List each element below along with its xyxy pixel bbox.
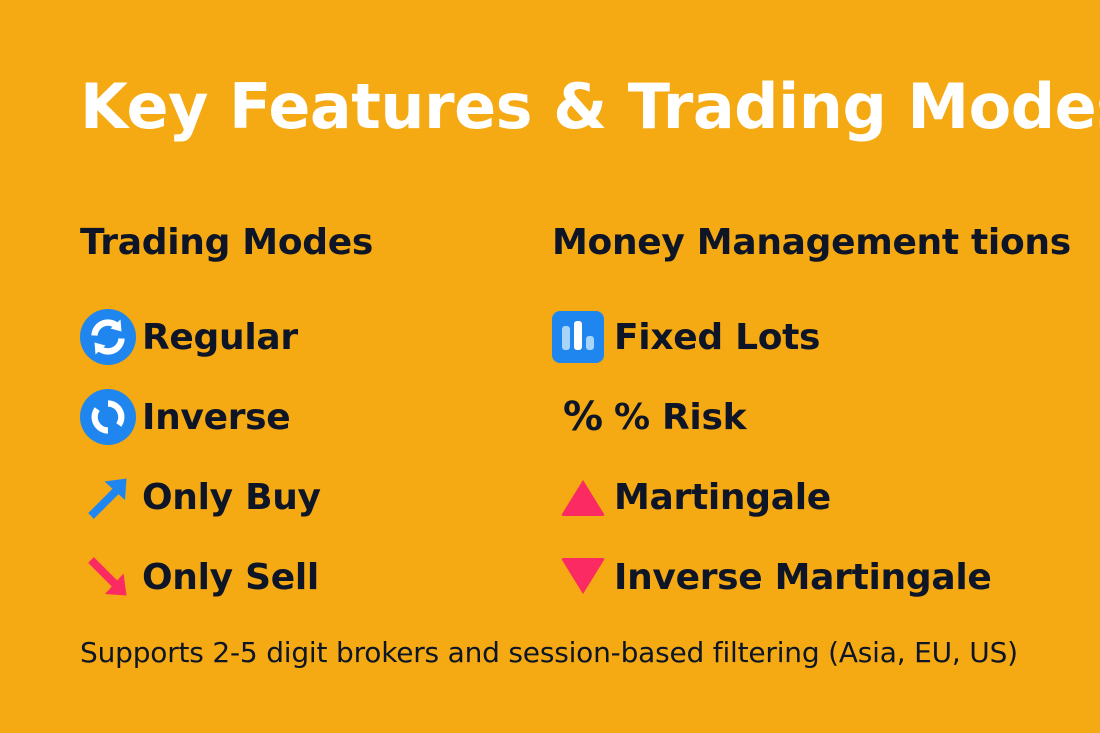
list-item-label: Inverse (142, 397, 290, 438)
triangle-up-icon (552, 469, 614, 525)
footer-note: Supports 2-5 digit brokers and session-b… (80, 636, 1090, 669)
slide-canvas: Key Features & Trading Modes Trading Mod… (0, 0, 1100, 733)
trading-modes-column: Trading Modes Regular (80, 222, 550, 617)
percent-icon: % (552, 389, 614, 445)
list-item-label: Inverse Martingale (614, 557, 992, 598)
list-item-only-buy[interactable]: Only Buy (80, 457, 550, 537)
money-management-column: Money Management tions Fixed Lots % % Ri… (552, 222, 1092, 617)
arrow-down-right-icon (80, 549, 142, 605)
circular-ring-circle-icon (80, 389, 142, 445)
triangle-down-icon (552, 549, 614, 605)
list-item-label: Only Buy (142, 477, 321, 518)
list-item-label: % Risk (614, 397, 746, 438)
list-item-percent-risk[interactable]: % % Risk (552, 377, 1092, 457)
list-item-fixed-lots[interactable]: Fixed Lots (552, 297, 1092, 377)
bar-chart-icon (552, 309, 614, 365)
list-item-label: Regular (142, 317, 298, 358)
money-management-heading: Money Management tions (552, 222, 1092, 263)
list-item-label: Only Sell (142, 557, 319, 598)
percent-glyph: % (563, 397, 603, 437)
trading-modes-heading: Trading Modes (80, 222, 550, 263)
list-item-inverse[interactable]: Inverse (80, 377, 550, 457)
page-title: Key Features & Trading Modes (80, 74, 1040, 139)
list-item-regular[interactable]: Regular (80, 297, 550, 377)
arrow-up-right-icon (80, 469, 142, 525)
sync-arrows-circle-icon (80, 309, 142, 365)
list-item-only-sell[interactable]: Only Sell (80, 537, 550, 617)
list-item-martingale[interactable]: Martingale (552, 457, 1092, 537)
list-item-inverse-martingale[interactable]: Inverse Martingale (552, 537, 1092, 617)
list-item-label: Martingale (614, 477, 831, 518)
list-item-label: Fixed Lots (614, 317, 820, 358)
